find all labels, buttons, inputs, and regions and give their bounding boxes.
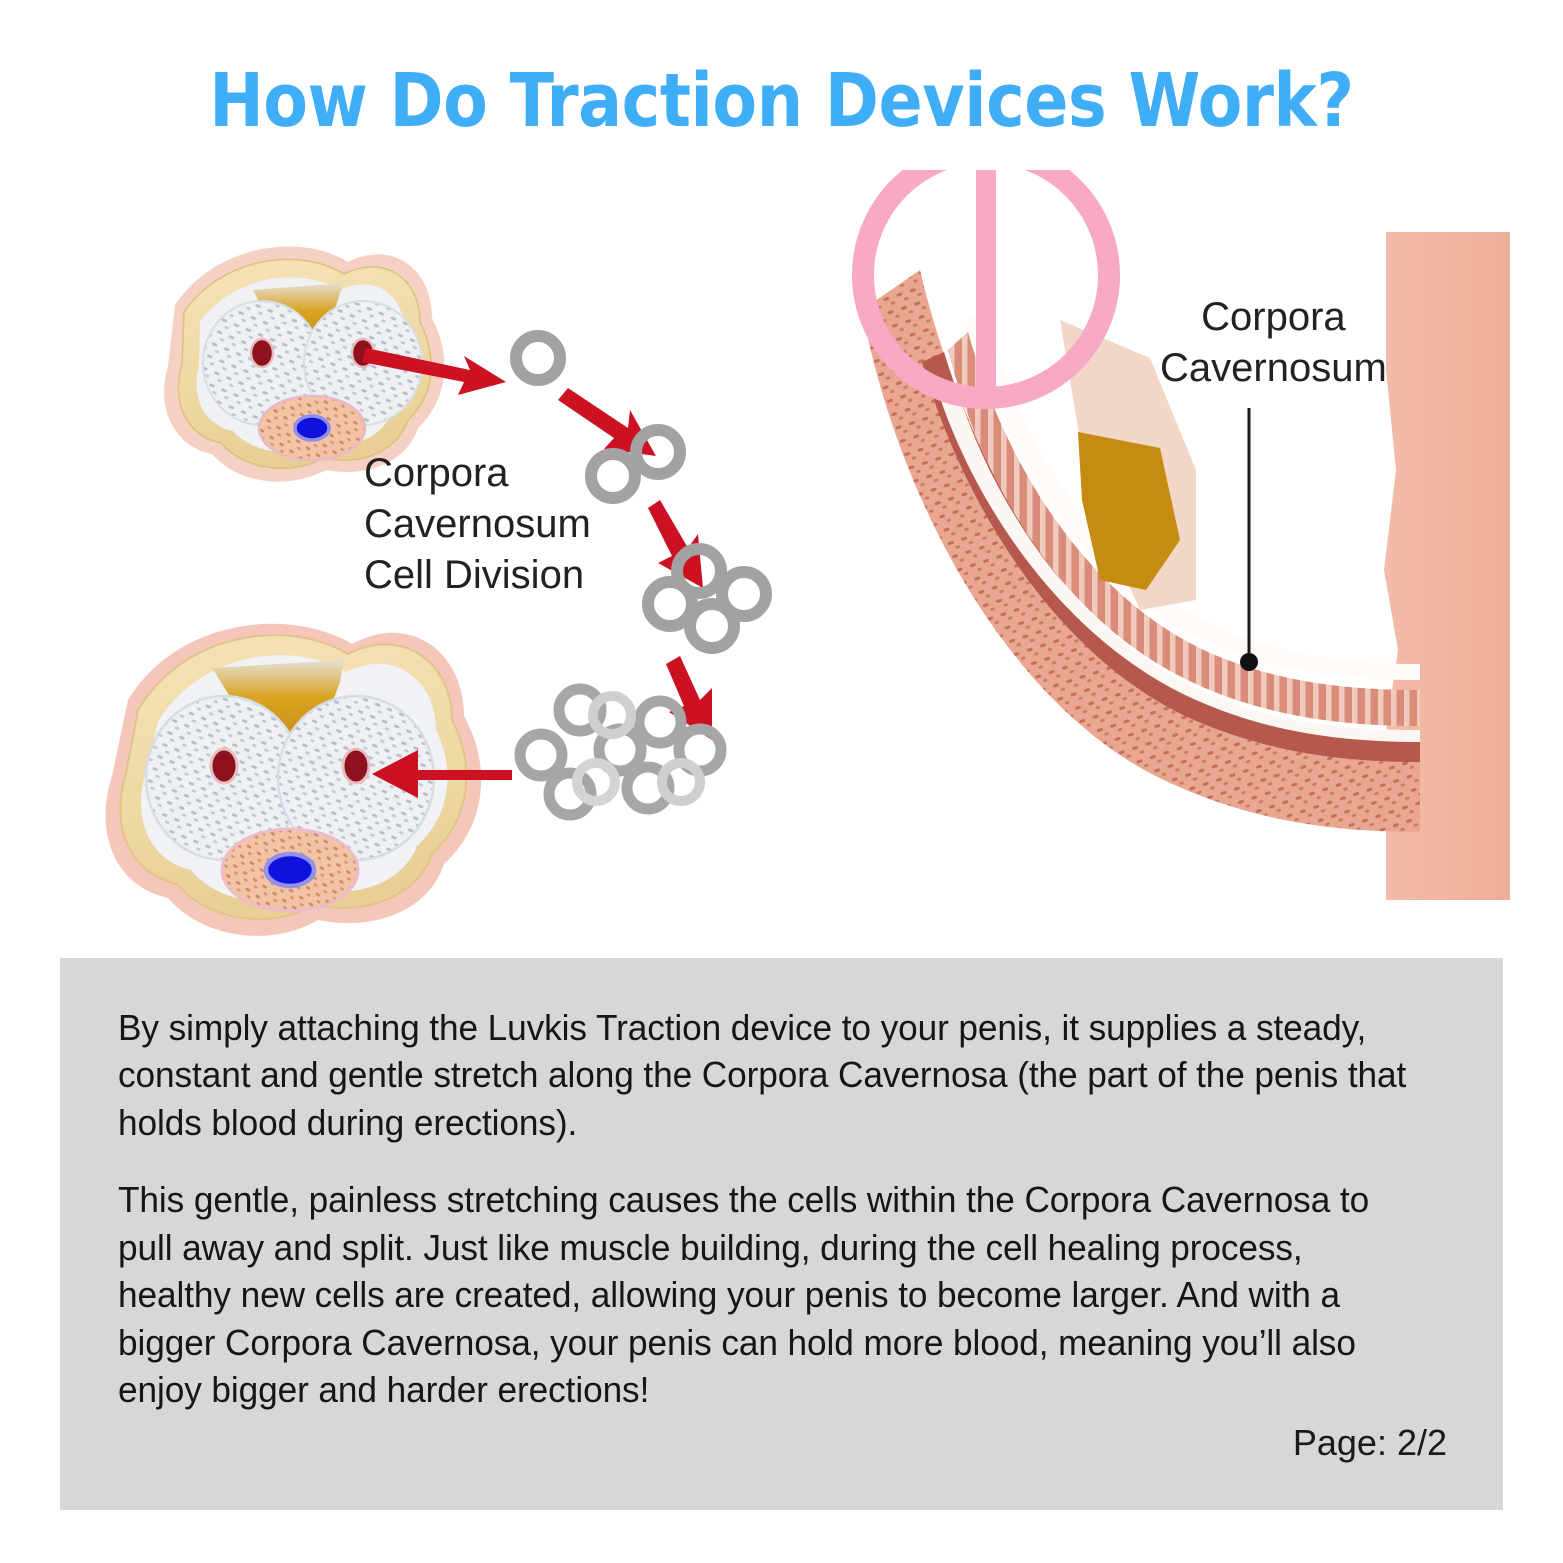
- stage-1-single-cell: [516, 336, 560, 380]
- stage-2-two-cells: [591, 430, 680, 498]
- penis-longitudinal-section: [862, 170, 1510, 900]
- urethra-dot: [266, 854, 314, 886]
- artery-dot: [211, 749, 237, 783]
- anatomy-diagram: Corpora Cavernosum Cell Division Corpora…: [0, 170, 1563, 960]
- artery-dot: [251, 339, 273, 367]
- label-corpora-cavernosum-cell-division: Corpora Cavernosum Cell Division: [364, 448, 591, 602]
- infographic-page: How Do Traction Devices Work?: [0, 0, 1563, 1563]
- description-panel: By simply attaching the Luvkis Traction …: [60, 958, 1503, 1510]
- paragraph-2: This gentle, painless stretching causes …: [118, 1176, 1408, 1413]
- urethra-dot: [295, 416, 329, 440]
- page-indicator: Page: 2/2: [1293, 1422, 1447, 1464]
- page-title: How Do Traction Devices Work?: [94, 58, 1469, 144]
- paragraph-1: By simply attaching the Luvkis Traction …: [118, 1004, 1408, 1146]
- leader-endpoint-dot: [1240, 653, 1258, 671]
- label-corpora-cavernosum: Corpora Cavernosum: [1160, 292, 1387, 394]
- corpora-leader-line: [1240, 408, 1258, 671]
- artery-dot: [343, 749, 369, 783]
